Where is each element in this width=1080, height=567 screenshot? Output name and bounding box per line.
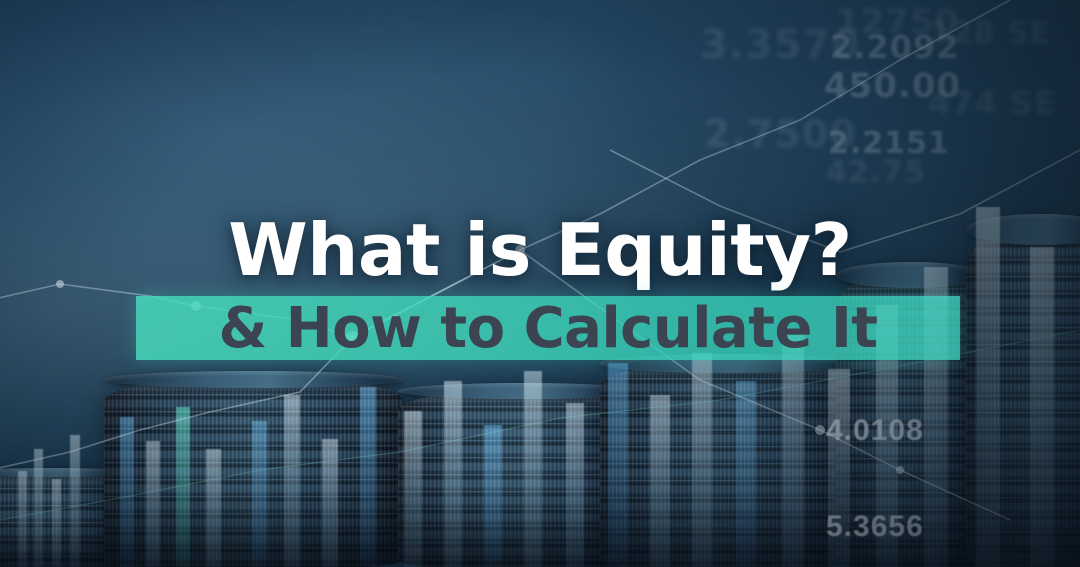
headline-block: What is Equity? & How to Calculate It — [0, 214, 1080, 360]
subtitle-wrapper: & How to Calculate It — [0, 296, 1080, 360]
page-subtitle: & How to Calculate It — [136, 296, 960, 360]
banner-image: 3.3570127502.2092128 SE450.00474 SE2.750… — [0, 0, 1080, 567]
page-title: What is Equity? — [0, 214, 1080, 286]
